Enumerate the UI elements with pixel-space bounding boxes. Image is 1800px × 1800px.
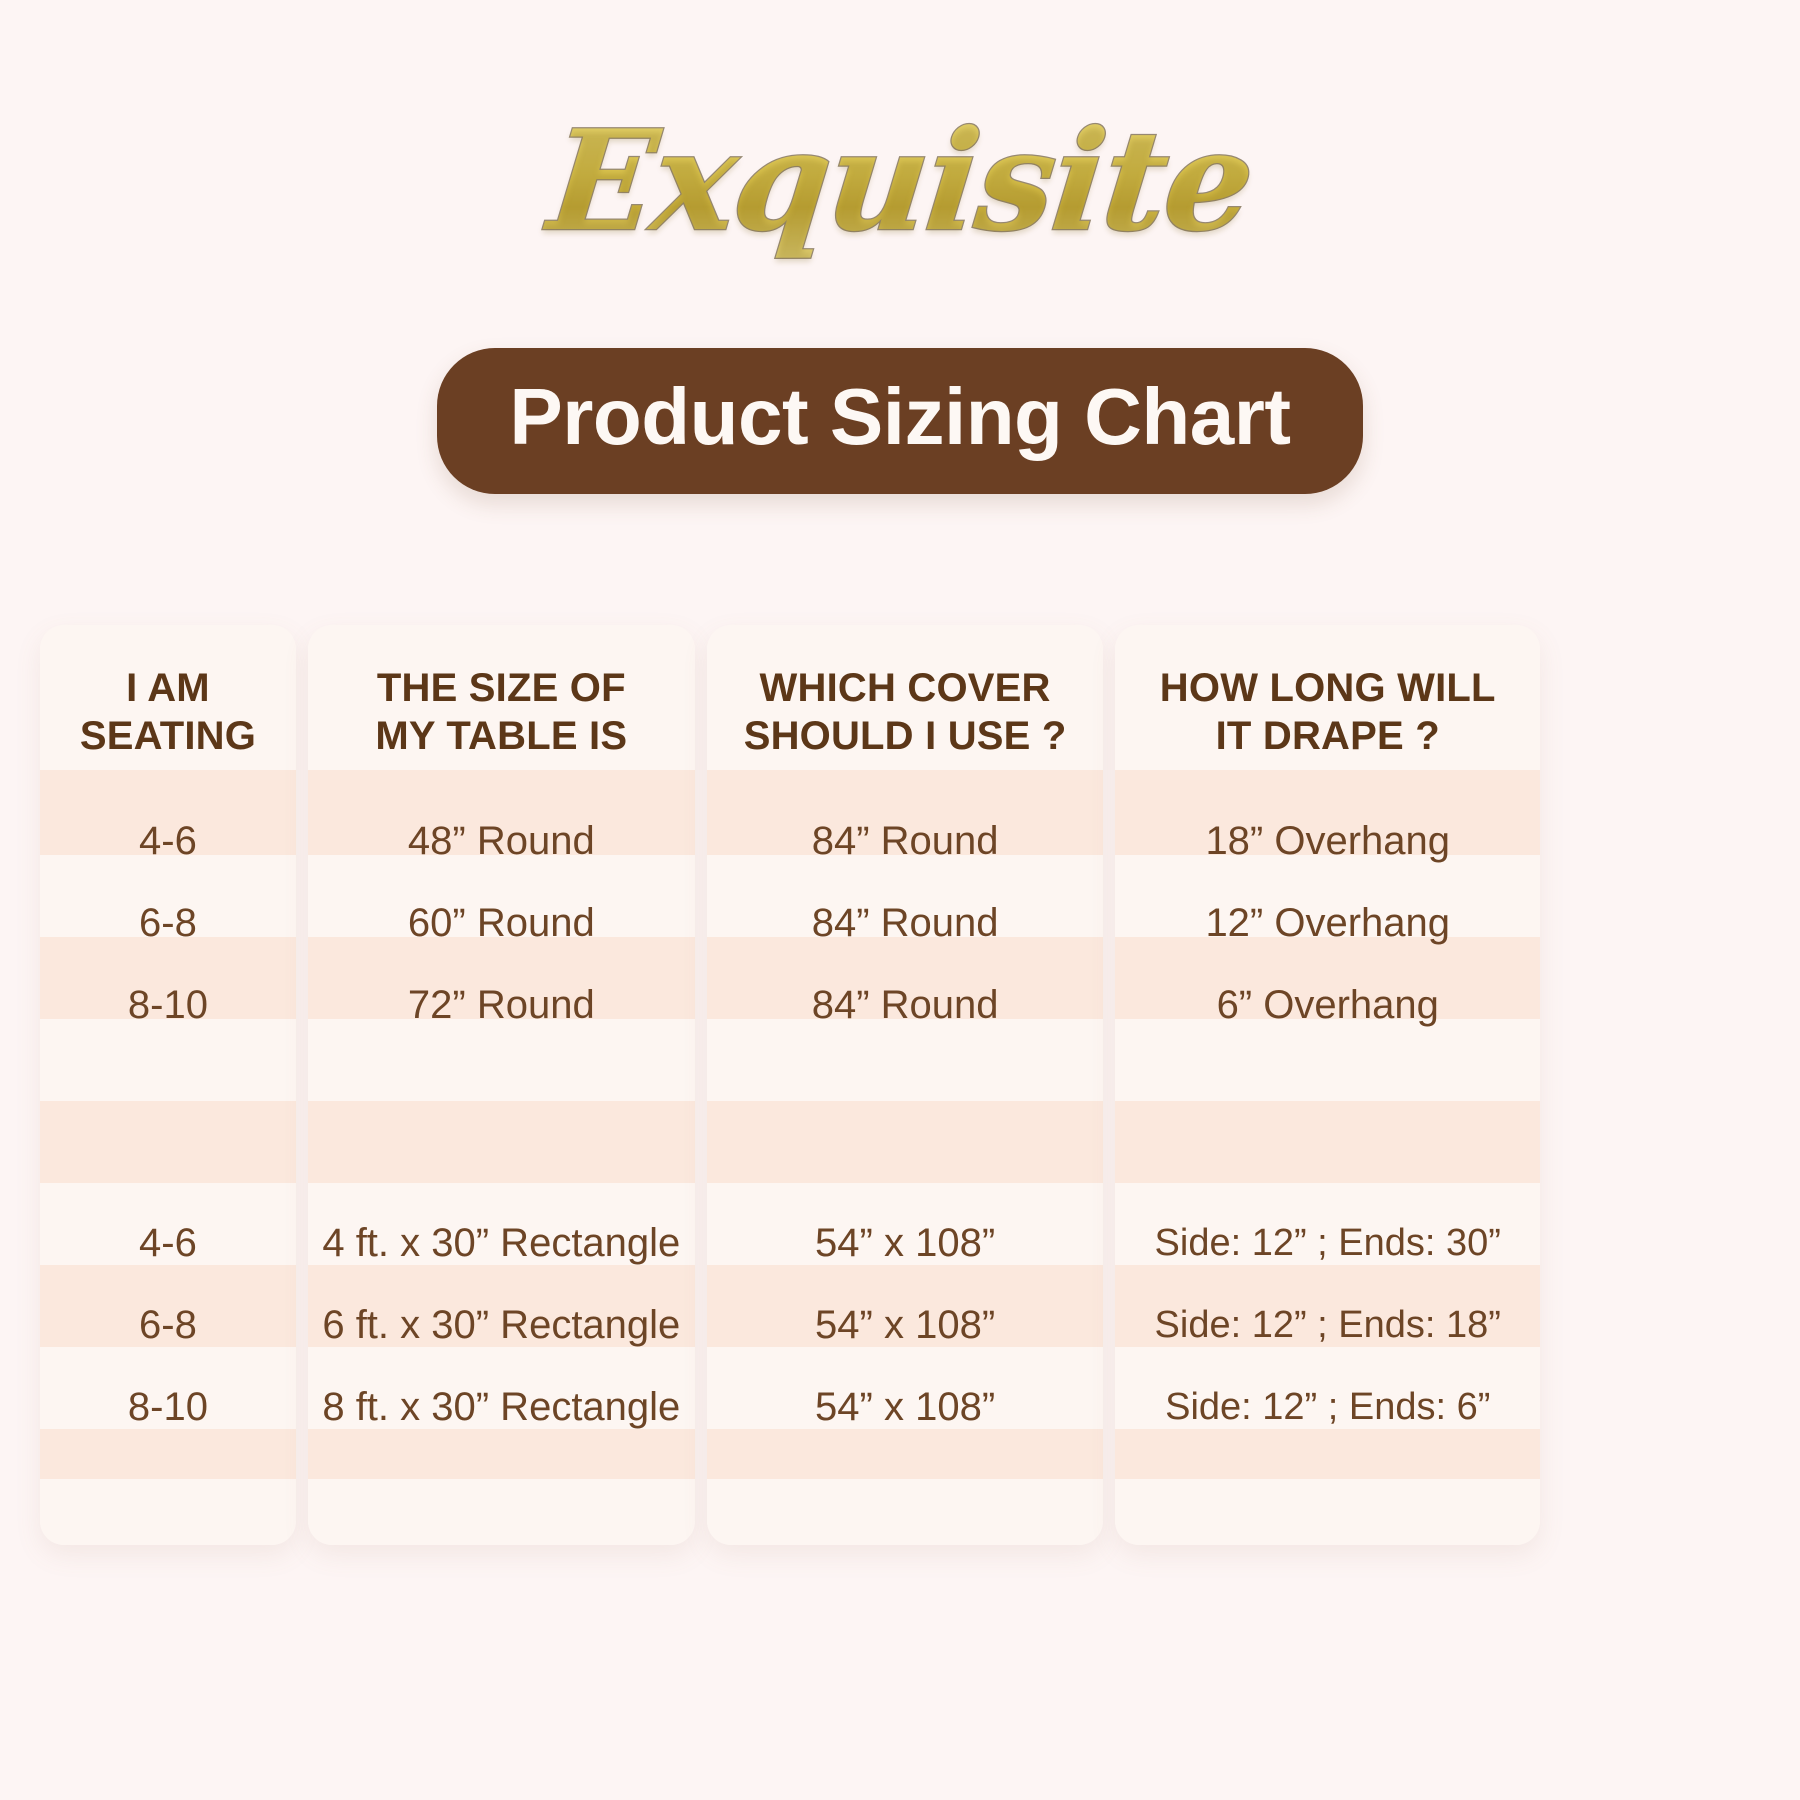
column-header-drape: HOW LONG WILLIT DRAPE ? xyxy=(1115,625,1540,800)
table-cell: 8 ft. x 30” Rectangle xyxy=(308,1366,695,1448)
table-cell: 6” Overhang xyxy=(1115,964,1540,1046)
table-cell: Side: 12” ; Ends: 30” xyxy=(1115,1202,1540,1284)
table-cell: 8-10 xyxy=(40,964,296,1046)
brand-logo-text: Exquisite xyxy=(531,105,1269,275)
table-cell: 6 ft. x 30” Rectangle xyxy=(308,1284,695,1366)
table-cell: 48” Round xyxy=(308,800,695,882)
table-cell: 84” Round xyxy=(707,882,1104,964)
column-header-table-size: THE SIZE OFMY TABLE IS xyxy=(308,625,695,800)
table-cell: 6-8 xyxy=(40,882,296,964)
table-cell: 84” Round xyxy=(707,964,1104,1046)
sizing-table: I AMSEATING 4-6 6-8 8-10 4-6 6-8 8-10 xyxy=(40,625,1540,1545)
table-column-cover: WHICH COVERSHOULD I USE ? 84” Round 84” … xyxy=(707,625,1104,1545)
table-column-table-size: THE SIZE OFMY TABLE IS 48” Round 60” Rou… xyxy=(308,625,695,1545)
table-cell-spacer xyxy=(40,1046,296,1202)
table-cell: 4-6 xyxy=(40,1202,296,1284)
table-cell: 60” Round xyxy=(308,882,695,964)
table-cell: 12” Overhang xyxy=(1115,882,1540,964)
table-cell: 84” Round xyxy=(707,800,1104,882)
table-cell: 72” Round xyxy=(308,964,695,1046)
page-title: Product Sizing Chart xyxy=(437,348,1362,494)
table-cell-spacer xyxy=(1115,1046,1540,1202)
table-column-seating: I AMSEATING 4-6 6-8 8-10 4-6 6-8 8-10 xyxy=(40,625,296,1545)
table-cell: Side: 12” ; Ends: 6” xyxy=(1115,1366,1540,1448)
column-header-cover: WHICH COVERSHOULD I USE ? xyxy=(707,625,1104,800)
table-cell-spacer xyxy=(707,1046,1104,1202)
table-cell: 54” x 108” xyxy=(707,1202,1104,1284)
page-title-row: Product Sizing Chart xyxy=(0,348,1800,494)
table-column-drape: HOW LONG WILLIT DRAPE ? 18” Overhang 12”… xyxy=(1115,625,1540,1545)
table-cell: 4 ft. x 30” Rectangle xyxy=(308,1202,695,1284)
table-cell: 54” x 108” xyxy=(707,1366,1104,1448)
table-cell: 8-10 xyxy=(40,1366,296,1448)
brand-logo: Exquisite Exquisite xyxy=(0,80,1800,300)
table-cell-spacer xyxy=(308,1046,695,1202)
table-cell: 54” x 108” xyxy=(707,1284,1104,1366)
table-cell: 6-8 xyxy=(40,1284,296,1366)
table-cell: 18” Overhang xyxy=(1115,800,1540,882)
table-cell: 4-6 xyxy=(40,800,296,882)
column-header-seating: I AMSEATING xyxy=(40,625,296,800)
table-cell: Side: 12” ; Ends: 18” xyxy=(1115,1284,1540,1366)
